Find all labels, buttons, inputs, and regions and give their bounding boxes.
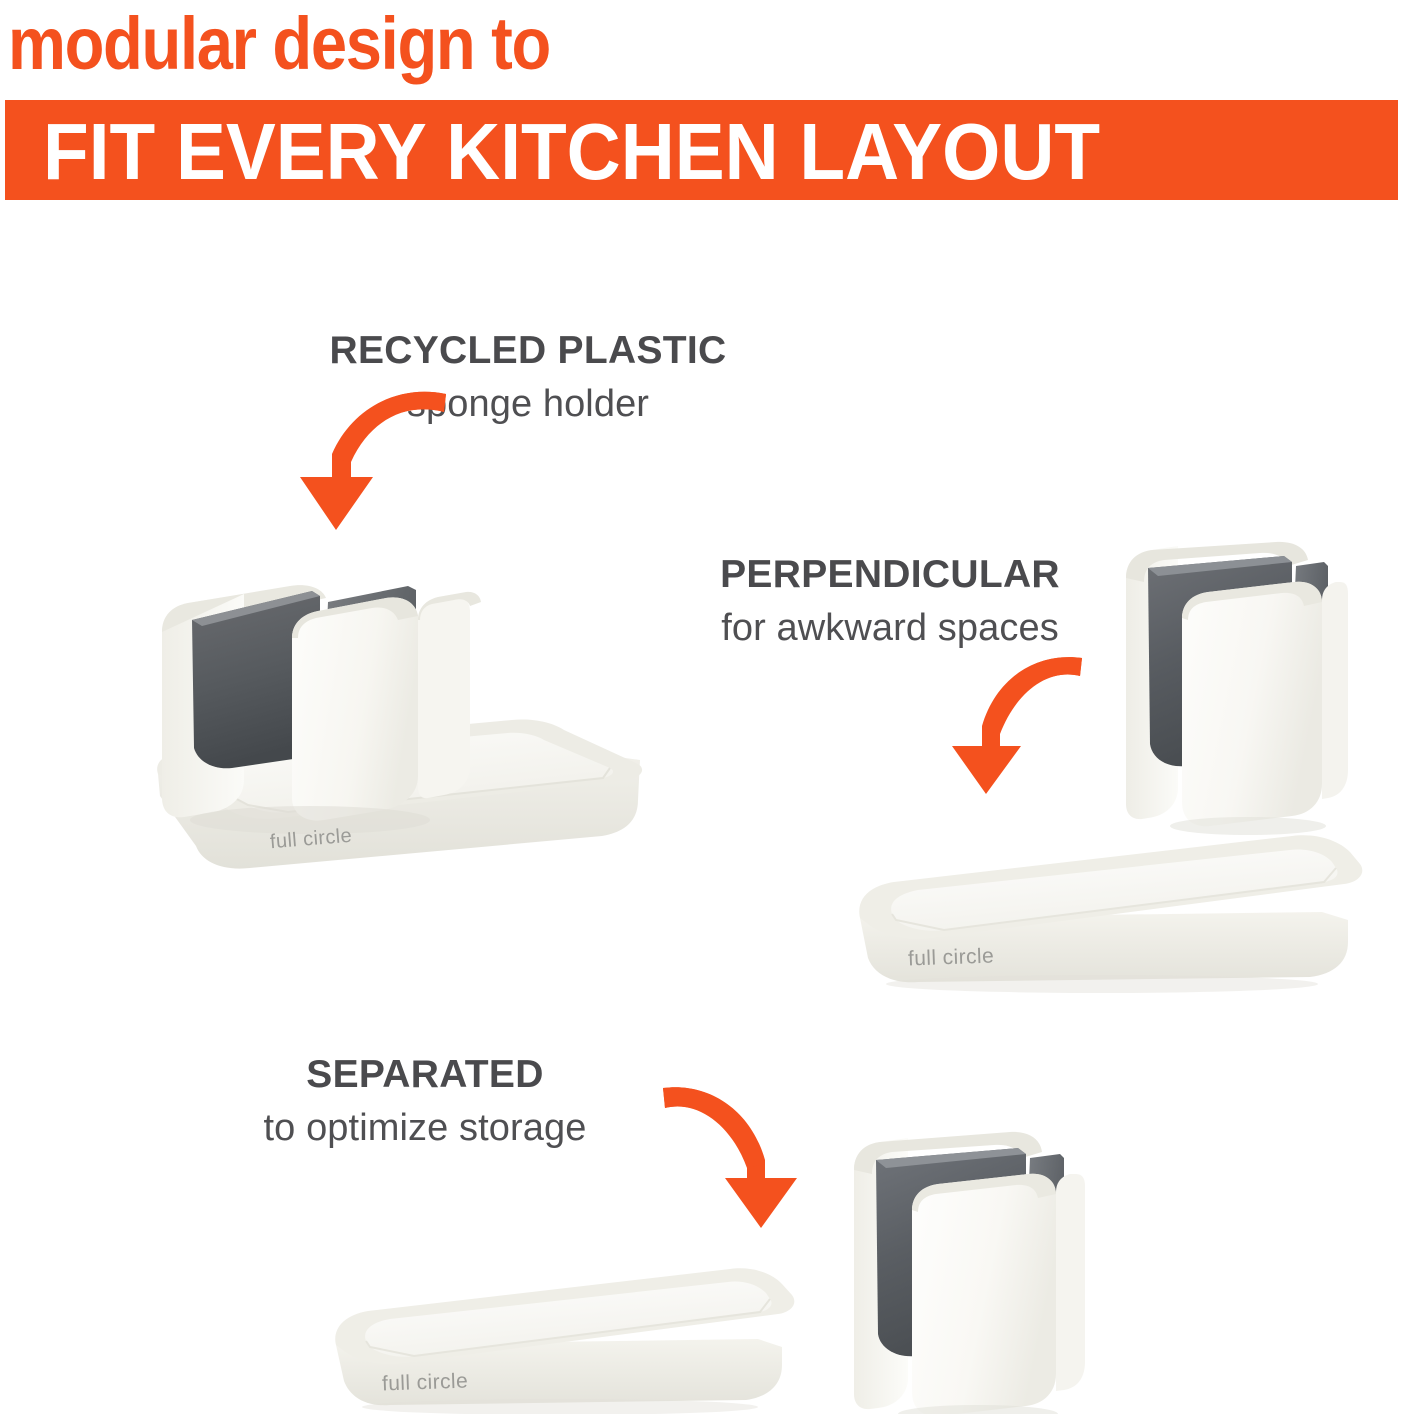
- product-combined-set: full circle: [140, 528, 650, 888]
- callout-perpendicular: PERPENDICULAR for awkward spaces: [645, 552, 1135, 652]
- brand-label: full circle: [908, 945, 995, 972]
- curved-arrow-down-left-icon-1: [278, 382, 468, 537]
- product-tray-perpendicular: full circle: [852, 820, 1364, 1000]
- callout-title: PERPENDICULAR: [645, 552, 1135, 598]
- headline-banner: FIT EVERY KITCHEN LAYOUT: [5, 100, 1398, 200]
- callout-subtitle: for awkward spaces: [645, 604, 1135, 652]
- curved-arrow-down-right-icon-3: [648, 1078, 813, 1233]
- headline-top: modular design to: [8, 2, 550, 86]
- product-tray-separated: full circle: [330, 1255, 800, 1414]
- product-holder-separated: [838, 1128, 1088, 1414]
- infographic-page: modular design to FIT EVERY KITCHEN LAYO…: [0, 0, 1408, 1414]
- curved-arrow-down-left-icon-2: [938, 648, 1098, 798]
- brand-label: full circle: [382, 1370, 469, 1397]
- callout-separated: SEPARATED to optimize storage: [175, 1052, 675, 1152]
- callout-title: SEPARATED: [175, 1052, 675, 1098]
- callout-subtitle: to optimize storage: [175, 1104, 675, 1152]
- banner-headline-text: FIT EVERY KITCHEN LAYOUT: [43, 106, 1100, 198]
- product-holder-perpendicular: [1108, 538, 1348, 830]
- callout-title: RECYCLED PLASTIC: [248, 328, 808, 374]
